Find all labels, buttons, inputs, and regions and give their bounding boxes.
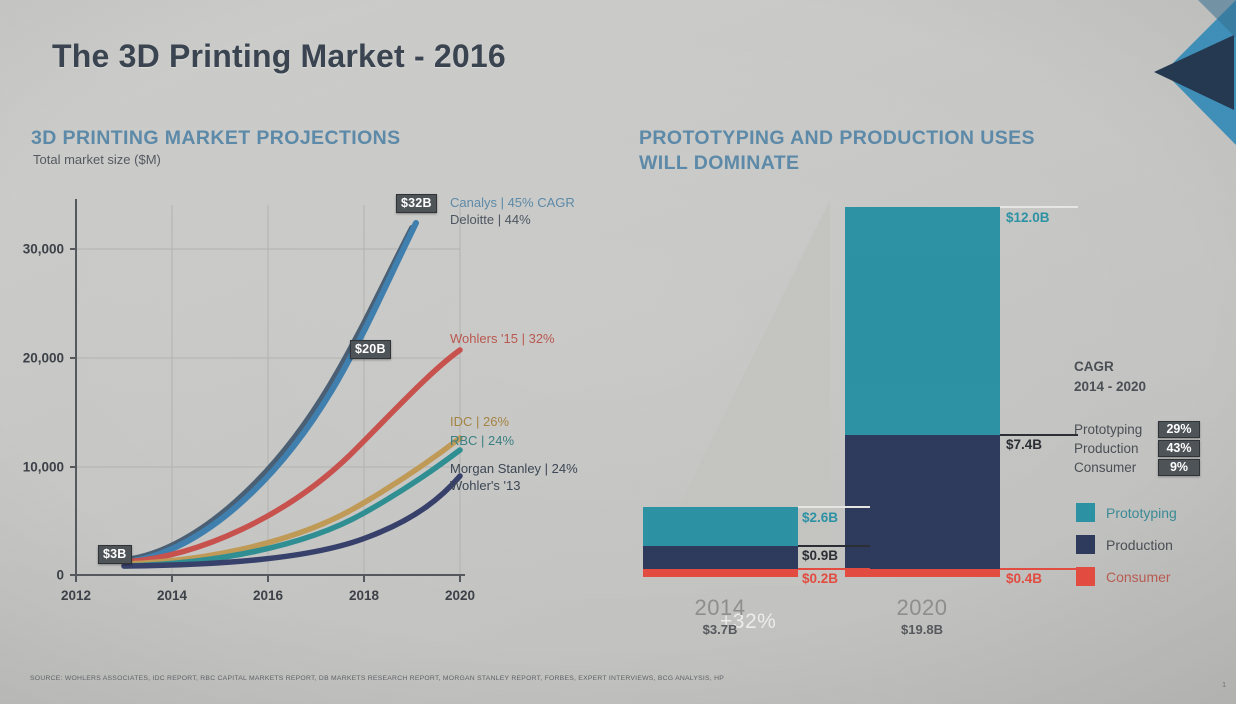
y-tick-10000: 10,000 bbox=[20, 460, 64, 475]
cagr-label-production: Production bbox=[1074, 441, 1158, 456]
cagr-title-line1: CAGR bbox=[1074, 359, 1114, 374]
leader-2020-prototyping bbox=[1000, 206, 1078, 208]
line-chart: 0 10,000 20,000 30,000 2012 2014 2016 20… bbox=[20, 185, 620, 615]
legend-swatch-consumer bbox=[1076, 567, 1095, 586]
series-label-morgan-stanley: Morgan Stanley | 24% bbox=[450, 461, 578, 477]
legend-label-prototyping: Prototyping bbox=[1106, 505, 1177, 521]
leader-2020-production bbox=[1000, 434, 1078, 436]
series-label-rbc: RBC | 24% bbox=[450, 433, 514, 449]
value-label-2014-consumer: $0.2B bbox=[802, 571, 838, 586]
right-panel-heading: PROTOTYPING AND PRODUCTION USES WILL DOM… bbox=[639, 126, 1099, 177]
x-tick-2016: 2016 bbox=[253, 588, 283, 603]
bar-2020-prototyping bbox=[845, 207, 1000, 435]
cagr-label-prototyping: Prototyping bbox=[1074, 422, 1158, 437]
legend-swatch-production bbox=[1076, 535, 1095, 554]
x-tick-2018: 2018 bbox=[349, 588, 379, 603]
series-label-wohlers13: Wohler's '13 bbox=[450, 478, 520, 494]
corner-decoration-icon bbox=[1126, 0, 1236, 145]
series-label-idc: IDC | 26% bbox=[450, 414, 509, 430]
left-panel-heading: 3D PRINTING MARKET PROJECTIONS bbox=[31, 126, 401, 151]
bar-2014-prototyping bbox=[643, 507, 798, 546]
cagr-value-prototyping: 29% bbox=[1158, 421, 1200, 438]
series-label-canalys: Canalys | 45% CAGR bbox=[450, 195, 575, 211]
cagr-title-line2: 2014 - 2020 bbox=[1074, 379, 1146, 394]
bar-category-2020-year: 2020 bbox=[897, 595, 948, 621]
value-label-2020-production: $7.4B bbox=[1006, 437, 1042, 452]
page-title: The 3D Printing Market - 2016 bbox=[52, 38, 506, 75]
value-label-2014-production: $0.9B bbox=[802, 548, 838, 563]
legend-label-consumer: Consumer bbox=[1106, 569, 1171, 585]
value-label-2020-consumer: $0.4B bbox=[1006, 571, 1042, 586]
right-heading-line1: PROTOTYPING AND PRODUCTION USES bbox=[639, 127, 1035, 149]
source-note: SOURCE: WOHLERS ASSOCIATES, IDC REPORT, … bbox=[30, 675, 724, 682]
callout-3b: $3B bbox=[98, 545, 132, 564]
bar-chart-legend: Prototyping Production Consumer bbox=[1076, 503, 1177, 599]
value-label-2014-prototyping: $2.6B bbox=[802, 510, 838, 525]
right-heading-line2: WILL DOMINATE bbox=[639, 152, 799, 174]
cagr-title: CAGR 2014 - 2020 bbox=[1074, 357, 1200, 396]
cagr-value-consumer: 9% bbox=[1158, 459, 1200, 476]
page-number: 1 bbox=[1222, 682, 1226, 689]
bar-category-2014-total: $3.7B bbox=[695, 622, 746, 637]
series-label-wohlers15: Wohlers '15 | 32% bbox=[450, 331, 555, 347]
leader-2014-consumer bbox=[798, 568, 870, 570]
legend-item-prototyping: Prototyping bbox=[1076, 503, 1177, 522]
cagr-value-production: 43% bbox=[1158, 440, 1200, 457]
cagr-row-consumer: Consumer 9% bbox=[1074, 458, 1200, 477]
y-tick-30000: 30,000 bbox=[20, 242, 64, 257]
leader-2014-prototyping bbox=[798, 506, 870, 508]
cagr-row-prototyping: Prototyping 29% bbox=[1074, 420, 1200, 439]
legend-item-consumer: Consumer bbox=[1076, 567, 1177, 586]
legend-swatch-prototyping bbox=[1076, 503, 1095, 522]
cagr-rows: Prototyping 29% Production 43% Consumer … bbox=[1074, 420, 1200, 477]
value-label-2020-prototyping: $12.0B bbox=[1006, 210, 1050, 225]
cagr-block: CAGR 2014 - 2020 Prototyping 29% Product… bbox=[1074, 357, 1200, 477]
legend-label-production: Production bbox=[1106, 537, 1173, 553]
bar-category-2020-total: $19.8B bbox=[897, 622, 948, 637]
bar-2014-consumer bbox=[643, 569, 798, 577]
legend-item-production: Production bbox=[1076, 535, 1177, 554]
bar-category-2014-year: 2014 bbox=[695, 595, 746, 621]
leader-2020-consumer bbox=[1000, 568, 1078, 570]
x-tick-2012: 2012 bbox=[61, 588, 91, 603]
callout-32b: $32B bbox=[396, 194, 437, 213]
series-label-deloitte: Deloitte | 44% bbox=[450, 212, 531, 228]
x-tick-2020: 2020 bbox=[445, 588, 475, 603]
leader-2014-production bbox=[798, 545, 870, 547]
callout-20b: $20B bbox=[350, 340, 391, 359]
bar-category-2020: 2020 $19.8B bbox=[897, 595, 948, 637]
x-tick-2014: 2014 bbox=[157, 588, 187, 603]
bar-2014-production bbox=[643, 546, 798, 569]
bar-category-2014: 2014 $3.7B bbox=[695, 595, 746, 637]
bar-2020-consumer bbox=[845, 569, 1000, 577]
cagr-row-production: Production 43% bbox=[1074, 439, 1200, 458]
y-tick-0: 0 bbox=[20, 568, 64, 583]
y-tick-20000: 20,000 bbox=[20, 351, 64, 366]
left-panel-subheading: Total market size ($M) bbox=[33, 152, 161, 167]
cagr-label-consumer: Consumer bbox=[1074, 460, 1158, 475]
bar-2020-production bbox=[845, 435, 1000, 569]
